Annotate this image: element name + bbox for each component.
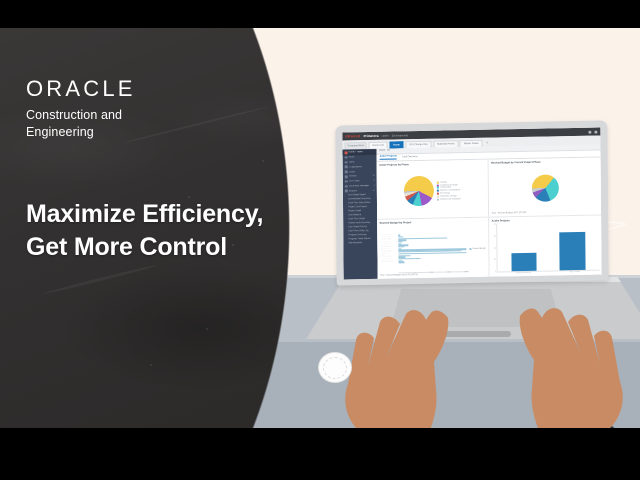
brand-line-1: Construction and (26, 107, 136, 124)
legend-label: Revised Budget (473, 247, 486, 249)
legend-swatch (437, 193, 439, 195)
bar-row: Library Interior Upgrade (380, 260, 466, 263)
draft-icon (345, 171, 348, 174)
sidebar-item-label: Alerts (349, 156, 375, 158)
pie-chart-projects-by-phase (404, 176, 434, 207)
sidebar-item-label: Home - Tasks (349, 151, 375, 153)
texture-speck (150, 364, 152, 366)
column-bar (511, 252, 536, 271)
user-icon[interactable] (594, 130, 597, 133)
report-icon (345, 190, 348, 193)
sidebar-item-label: E-Signatures (349, 166, 375, 168)
sidebar-item-label: Unit Costs (349, 180, 373, 182)
chart-area: 806040200 (492, 222, 599, 273)
primavera-dashboard: ORACLE Primavera Unifier (Development) C… (342, 128, 601, 280)
axis-label: Major Capital (570, 271, 580, 273)
oracle-wordmark: ORACLE (26, 78, 136, 100)
dashboard-content: Home All Active Projects Total Overview (377, 144, 602, 279)
header-spacer (411, 132, 585, 135)
bar (398, 262, 404, 263)
legend-swatch (437, 199, 439, 201)
legend-swatch (437, 187, 439, 189)
gear-icon[interactable] (588, 130, 591, 133)
sidebar-badge: 12 (373, 175, 375, 177)
breadcrumb-all[interactable]: All (387, 150, 390, 152)
chart-legend: ClosingConstruction DesignConstructionIs… (437, 181, 461, 201)
legend-swatch (470, 248, 472, 250)
sidebar: Home - Tasks Alerts Tasks (343, 148, 378, 279)
laptop-screen: ORACLE Primavera Unifier (Development) C… (342, 128, 601, 280)
app-product-name: Primavera (364, 134, 379, 138)
notice-icon (345, 175, 348, 178)
chart-legend: Revised Budget (470, 247, 486, 249)
breadcrumb-home[interactable]: Home (379, 150, 385, 152)
legend-swatch (437, 196, 439, 198)
column-chart (496, 222, 599, 273)
horizontal-bar-chart: GIS Chemical Engineering BuildBldg 1040 … (380, 224, 469, 272)
legend-swatch (437, 190, 439, 192)
alert-icon (345, 156, 348, 159)
widget-grid: Active Projects by Phase ClosingConstruc… (377, 157, 602, 279)
chart-area: ClosingConstruction DesignConstructionIs… (379, 165, 485, 217)
app-logo: ORACLE (345, 134, 360, 138)
home-icon (345, 151, 348, 154)
chart-area: GIS Chemical Engineering BuildBldg 1040 … (380, 224, 486, 275)
app-body: Home - Tasks Alerts Tasks (343, 144, 602, 279)
sidebar-badge: 21 (373, 190, 375, 192)
sidebar-item-label: Notices (349, 175, 371, 177)
sidebar-item-label: Document Manager (349, 185, 373, 187)
oracle-brand-lockup: ORACLE Construction and Engineering (26, 78, 136, 141)
sidebar-badge: 4 (374, 185, 375, 187)
sidebar-item-label: Tasks (349, 161, 375, 163)
legend-swatch (437, 184, 439, 186)
wristwatch (318, 352, 352, 383)
texture-speck (262, 160, 264, 162)
pie-chart-budget-by-phase (531, 174, 558, 202)
sidebar-badge: 8 (374, 180, 375, 182)
app-module-name: Unifier (382, 134, 389, 137)
app-environment: (Development) (392, 134, 408, 137)
legend-row: Verified Cost Evaluation (437, 198, 461, 200)
subtab-active-projects[interactable]: Active Projects (380, 155, 397, 160)
brand-line-2: Engineering (26, 124, 136, 141)
cost-icon (345, 180, 348, 183)
headline-line-2: Get More Control (26, 231, 263, 264)
letterbox-top (0, 0, 640, 28)
folder-icon (345, 185, 348, 188)
video-frame: ORACLE Construction and Engineering Maxi… (0, 0, 640, 480)
widget-active-projects: Active Projects 806040200 Capital Improv… (489, 216, 601, 277)
legend-swatch (437, 181, 439, 183)
legend-label: Closing (440, 181, 446, 183)
laptop-lid: ORACLE Primavera Unifier (Development) C… (335, 120, 608, 285)
subtab-total-overview[interactable]: Total Overview (402, 155, 418, 158)
headline: Maximize Efficiency, Get More Control (26, 198, 263, 263)
chart-area (491, 163, 598, 213)
sidebar-subitem[interactable]: Administration (343, 241, 377, 246)
axis-label: Capital Improvement (515, 272, 531, 274)
letterbox-bottom (0, 428, 640, 480)
texture-speck (206, 328, 208, 330)
task-icon (345, 161, 348, 164)
sidebar-item-label: Drafts (349, 170, 375, 172)
legend-label: Verified Cost Evaluation (440, 198, 461, 200)
headline-line-1: Maximize Efficiency, (26, 198, 263, 231)
widget-budget-by-phase: Revised Budget by Current Project Phase … (489, 157, 601, 218)
watch-face (323, 357, 347, 379)
widget-budget-by-project: Revised Budget by Project GIS Chemical E… (377, 218, 489, 279)
widget-footer: Total - Revised Budget: $971,370,355 (492, 211, 599, 215)
column-bar (560, 232, 586, 271)
bar-label: Library Interior Upgrade (380, 262, 397, 263)
widget-projects-by-phase: Active Projects by Phase ClosingConstruc… (377, 159, 489, 220)
sidebar-item-label: Reports (349, 190, 371, 192)
signature-icon (345, 166, 348, 169)
